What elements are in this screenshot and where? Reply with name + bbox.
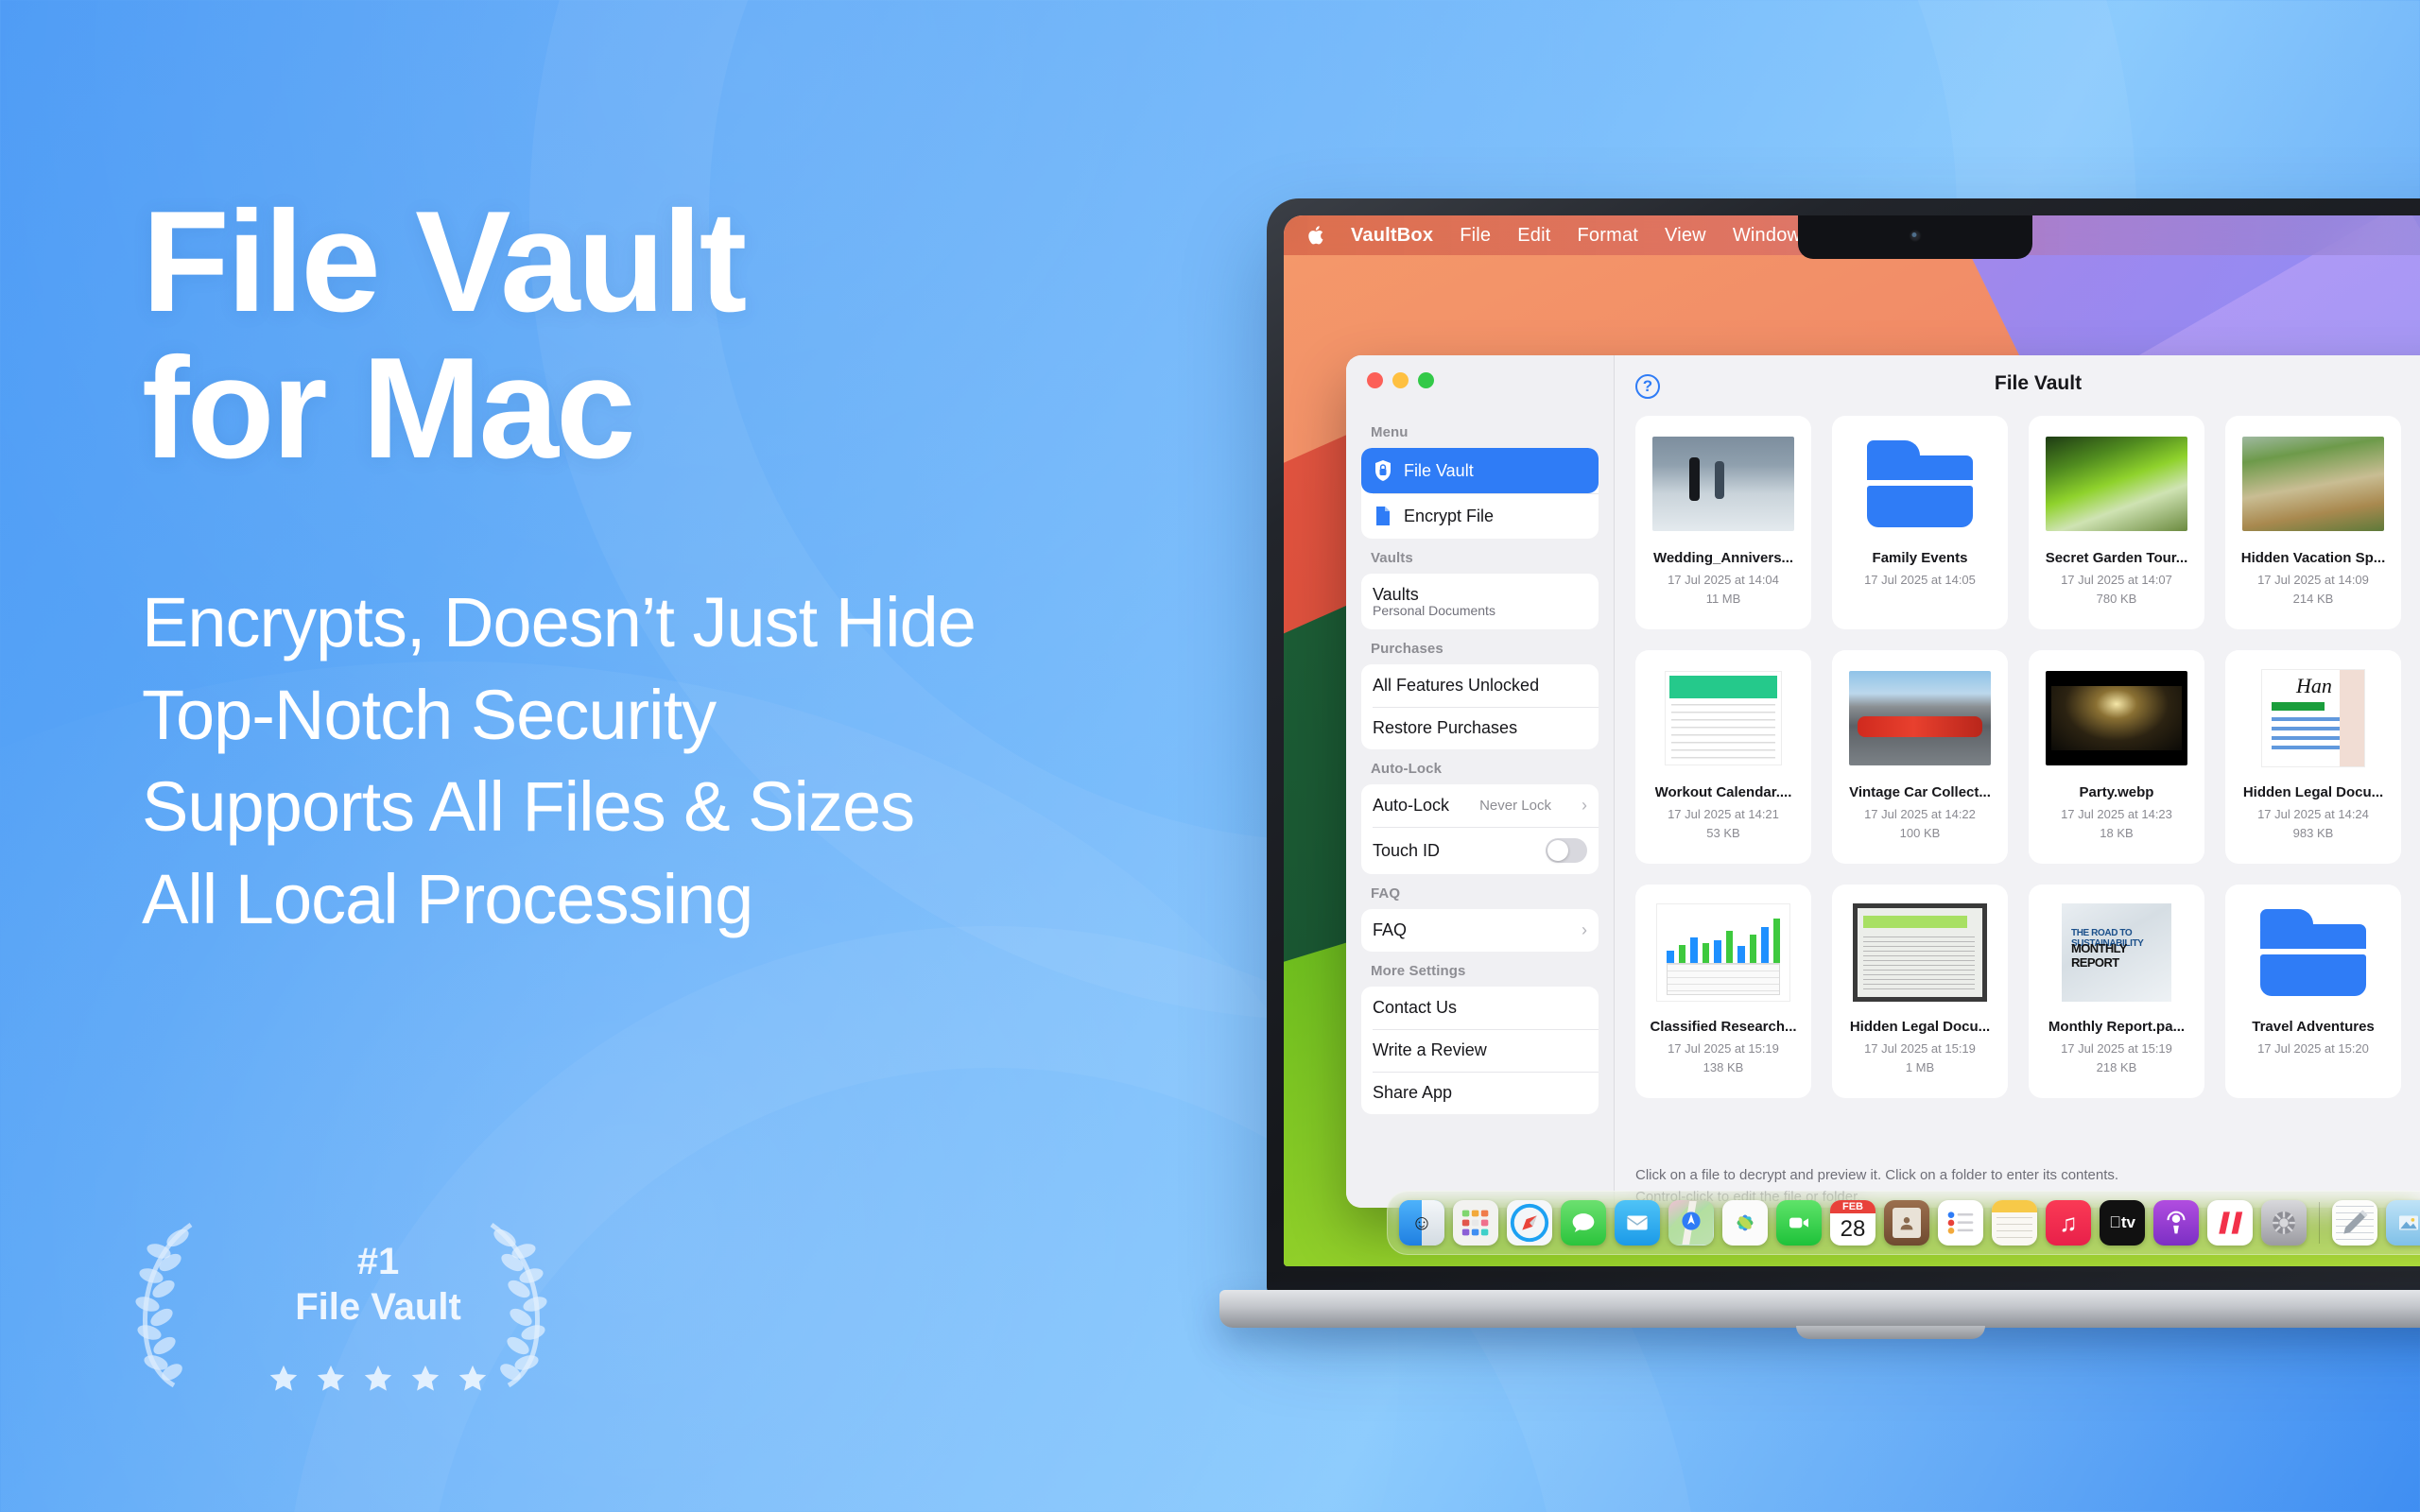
file-size: 53 KB [1706, 824, 1739, 843]
sidebar-item-label: Vaults [1373, 585, 1419, 605]
file-date: 17 Jul 2025 at 14:04 [1668, 571, 1779, 590]
file-date: 17 Jul 2025 at 14:24 [2257, 805, 2369, 824]
photo-icon [2046, 671, 2187, 765]
file-card[interactable]: Secret Garden Tour... 17 Jul 2025 at 14:… [2029, 416, 2204, 629]
music-icon[interactable]: ♫ [2046, 1200, 2091, 1246]
main-toolbar: ? File Vault [1615, 355, 2420, 414]
menu-item-format[interactable]: Format [1577, 225, 1638, 247]
sidebar-item-auto-lock[interactable]: Auto-Lock Never Lock › [1361, 784, 1599, 827]
photo-icon [2046, 437, 2187, 531]
sidebar-group-auto-lock: Auto-Lock Never Lock › Touch ID [1361, 784, 1599, 874]
star-icon [409, 1363, 441, 1395]
photo-icon [1652, 437, 1794, 531]
sidebar-item-contact-us[interactable]: Contact Us [1361, 987, 1599, 1029]
file-grid: Wedding_Annivers... 17 Jul 2025 at 14:04… [1615, 414, 2420, 1150]
file-name: Secret Garden Tour... [2046, 550, 2188, 566]
award-badge: #1 File Vault [132, 1219, 624, 1408]
auto-lock-value: Never Lock [1479, 798, 1551, 814]
file-size: 11 MB [1706, 590, 1741, 609]
chevron-right-icon: › [1582, 920, 1587, 940]
sidebar-item-label: All Features Unlocked [1373, 676, 1539, 696]
chart-preview-icon [1656, 903, 1790, 1002]
menu-item-app[interactable]: VaultBox [1351, 225, 1433, 247]
file-name: Family Events [1873, 550, 1968, 566]
photos-icon[interactable] [1722, 1200, 1768, 1246]
main-content: ? File Vault Wedding_Annivers... 17 Jul … [1615, 355, 2420, 1208]
file-size: 214 KB [2293, 590, 2334, 609]
menu-item-file[interactable]: File [1460, 225, 1491, 247]
pdf-preview-icon: THE ROAD TOSUSTAINABILITYMONTHLYREPORT [2062, 903, 2171, 1002]
sidebar-group-vaults: Vaults Personal Documents [1361, 574, 1599, 629]
laptop-base [1219, 1290, 2420, 1328]
mail-icon[interactable] [1615, 1200, 1660, 1246]
file-card[interactable]: Vintage Car Collect... 17 Jul 2025 at 14… [1832, 650, 2008, 864]
file-thumbnail [2046, 431, 2187, 537]
badge-rank: #1 [236, 1240, 520, 1283]
headline-line-1: File Vault [142, 181, 744, 342]
file-date: 17 Jul 2025 at 15:19 [2061, 1039, 2172, 1058]
file-name: Workout Calendar.... [1655, 784, 1792, 800]
system-settings-icon[interactable] [2261, 1200, 2307, 1246]
menu-item-view[interactable]: View [1665, 225, 1706, 247]
sidebar-item-share-app[interactable]: Share App [1361, 1072, 1599, 1114]
file-card[interactable]: Party.webp 17 Jul 2025 at 14:23 18 KB [2029, 650, 2204, 864]
dock-separator [2319, 1202, 2320, 1244]
sidebar-section-header: Purchases [1361, 629, 1599, 664]
file-thumbnail [1849, 431, 1991, 537]
touch-id-toggle[interactable] [1546, 838, 1587, 863]
sidebar-section-header: Vaults [1361, 539, 1599, 574]
calendar-icon[interactable]: FEB 28 [1830, 1200, 1875, 1246]
document-icon [1373, 505, 1393, 527]
badge-name: File Vault [236, 1283, 520, 1331]
sidebar-item-faq[interactable]: FAQ › [1361, 909, 1599, 952]
file-date: 17 Jul 2025 at 15:19 [1864, 1039, 1976, 1058]
folder-icon [2260, 909, 2366, 996]
main-title: File Vault [1615, 372, 2420, 395]
star-rating [236, 1363, 520, 1395]
file-date: 17 Jul 2025 at 14:21 [1668, 805, 1779, 824]
file-thumbnail [1652, 665, 1794, 771]
contacts-icon[interactable] [1884, 1200, 1929, 1246]
file-thumbnail [2242, 431, 2384, 537]
sidebar-section-header: Menu [1361, 413, 1599, 448]
sidebar-item-vaults[interactable]: Vaults [1361, 574, 1599, 609]
file-date: 17 Jul 2025 at 14:22 [1864, 805, 1976, 824]
messages-icon[interactable] [1561, 1200, 1606, 1246]
file-thumbnail [2242, 900, 2384, 1005]
marketing-copy: File Vault for Mac Encrypts, Doesn’t Jus… [142, 189, 1219, 946]
safari-icon[interactable] [1507, 1200, 1552, 1246]
file-thumbnail [2046, 665, 2187, 771]
photo-icon [2242, 437, 2384, 531]
sidebar-item-label: File Vault [1404, 461, 1474, 481]
sidebar-group-more-settings: Contact Us Write a Review Share App [1361, 987, 1599, 1114]
file-size: 780 KB [2097, 590, 2137, 609]
menu-item-edit[interactable]: Edit [1517, 225, 1550, 247]
file-size: 983 KB [2293, 824, 2334, 843]
file-card[interactable]: Wedding_Annivers... 17 Jul 2025 at 14:04… [1635, 416, 1811, 629]
news-icon[interactable] [2207, 1200, 2253, 1246]
sidebar-item-write-a-review[interactable]: Write a Review [1361, 1029, 1599, 1072]
file-name: Hidden Legal Docu... [2243, 784, 2383, 800]
file-card[interactable]: Travel Adventures 17 Jul 2025 at 15:20 [2225, 885, 2401, 1098]
feature-item: Top-Notch Security [142, 669, 1219, 762]
laptop-screen: VaultBox File Edit Format View Window He… [1284, 215, 2420, 1266]
file-date: 17 Jul 2025 at 14:07 [2061, 571, 2172, 590]
minimize-button[interactable] [1392, 372, 1409, 388]
menu-item-window[interactable]: Window [1733, 225, 1801, 247]
file-date: 17 Jul 2025 at 15:20 [2257, 1039, 2369, 1058]
file-date: 17 Jul 2025 at 14:23 [2061, 805, 2172, 824]
file-thumbnail [1849, 900, 1991, 1005]
sidebar-item-touch-id[interactable]: Touch ID [1361, 827, 1599, 874]
sidebar-item-label: Encrypt File [1404, 507, 1494, 526]
notes-icon[interactable] [1992, 1200, 2037, 1246]
document-preview-icon: Han [2261, 669, 2365, 767]
webcam-icon [1910, 230, 1922, 242]
reminders-icon[interactable] [1938, 1200, 1983, 1246]
chevron-right-icon: › [1582, 796, 1587, 816]
sidebar-section-header: Auto-Lock [1361, 749, 1599, 784]
sidebar-item-label: Auto-Lock [1373, 796, 1449, 816]
app-window: Menu File Vault [1346, 355, 2420, 1208]
star-icon [268, 1363, 300, 1395]
textedit-icon[interactable] [2332, 1200, 2377, 1246]
sidebar-item-file-vault[interactable]: File Vault [1361, 448, 1599, 493]
file-name: Monthly Report.pa... [2048, 1019, 2185, 1035]
file-card[interactable]: Family Events 17 Jul 2025 at 14:05 [1832, 416, 2008, 629]
photo-icon [1849, 671, 1991, 765]
sidebar-item-label: FAQ [1373, 920, 1407, 940]
file-name: Hidden Vacation Sp... [2241, 550, 2386, 566]
laptop-lid: VaultBox File Edit Format View Window He… [1267, 198, 2420, 1295]
macbook-mockup: VaultBox File Edit Format View Window He… [1219, 198, 2420, 1361]
sidebar: Menu File Vault [1346, 355, 1615, 1208]
star-icon [457, 1363, 489, 1395]
file-name: Party.webp [2080, 784, 2154, 800]
headline-line-2: for Mac [142, 335, 1219, 482]
zoom-button[interactable] [1418, 372, 1434, 388]
file-size: 18 KB [2100, 824, 2133, 843]
display-notch [1798, 215, 2032, 259]
sidebar-section-header: More Settings [1361, 952, 1599, 987]
file-thumbnail: Han [2242, 665, 2384, 771]
file-name: Travel Adventures [2252, 1019, 2375, 1035]
badge-text: #1 File Vault [236, 1240, 520, 1331]
slide-preview-icon [1853, 903, 1987, 1002]
sidebar-item-all-features-unlocked[interactable]: All Features Unlocked [1361, 664, 1599, 707]
main-title-text: File Vault [1995, 372, 2082, 395]
sidebar-group-faq: FAQ › [1361, 909, 1599, 952]
launchpad-icon[interactable] [1453, 1200, 1498, 1246]
macos-dock[interactable]: ☺ [1387, 1191, 2420, 1255]
file-date: 17 Jul 2025 at 15:19 [1668, 1039, 1779, 1058]
close-button[interactable] [1367, 372, 1383, 388]
preview-icon[interactable] [2386, 1200, 2420, 1246]
sidebar-group-menu: File Vault Encrypt File [1361, 448, 1599, 539]
feature-list: Encrypts, Doesn’t Just Hide Top-Notch Se… [142, 576, 1219, 946]
sidebar-item-label: Write a Review [1373, 1040, 1487, 1060]
facetime-icon[interactable] [1776, 1200, 1822, 1246]
file-thumbnail [1652, 900, 1794, 1005]
file-name: Classified Research... [1650, 1019, 1796, 1035]
star-icon [315, 1363, 347, 1395]
feature-item: Supports All Files & Sizes [142, 761, 1219, 853]
file-name: Hidden Legal Docu... [1850, 1019, 1990, 1035]
sidebar-item-label: Share App [1373, 1083, 1452, 1103]
hint-line-1: Click on a file to decrypt and preview i… [1635, 1165, 2420, 1187]
sidebar-item-label: Contact Us [1373, 998, 1457, 1018]
file-card[interactable]: Hidden Vacation Sp... 17 Jul 2025 at 14:… [2225, 416, 2401, 629]
file-card[interactable]: THE ROAD TOSUSTAINABILITYMONTHLYREPORT M… [2029, 885, 2204, 1098]
file-name: Wedding_Annivers... [1653, 550, 1793, 566]
file-thumbnail [1849, 665, 1991, 771]
sidebar-item-label: Restore Purchases [1373, 718, 1517, 738]
file-thumbnail: THE ROAD TOSUSTAINABILITYMONTHLYREPORT [2046, 900, 2187, 1005]
file-size: 138 KB [1703, 1058, 1744, 1077]
file-name: Vintage Car Collect... [1849, 784, 1991, 800]
file-card[interactable]: Classified Research... 17 Jul 2025 at 15… [1635, 885, 1811, 1098]
laurel-left-icon [132, 1219, 208, 1389]
appletv-icon[interactable]: tv [2100, 1200, 2145, 1246]
sidebar-item-encrypt-file[interactable]: Encrypt File [1361, 493, 1599, 539]
file-card[interactable]: Han Hidden Legal Docu... 17 Jul 2025 at … [2225, 650, 2401, 864]
star-icon [362, 1363, 394, 1395]
finder-icon[interactable]: ☺ [1399, 1200, 1444, 1246]
sidebar-item-label: Touch ID [1373, 841, 1440, 861]
file-size: 100 KB [1900, 824, 1941, 843]
podcasts-icon[interactable] [2153, 1200, 2199, 1246]
file-size: 1 MB [1906, 1058, 1934, 1077]
file-thumbnail [1652, 431, 1794, 537]
folder-icon [1867, 440, 1973, 527]
file-date: 17 Jul 2025 at 14:09 [2257, 571, 2369, 590]
window-controls[interactable] [1361, 355, 1599, 413]
page-title: File Vault for Mac [142, 189, 1219, 482]
file-date: 17 Jul 2025 at 14:05 [1864, 571, 1976, 590]
feature-item: All Local Processing [142, 853, 1219, 946]
sidebar-group-purchases: All Features Unlocked Restore Purchases [1361, 664, 1599, 749]
file-card[interactable]: Hidden Legal Docu... 17 Jul 2025 at 15:1… [1832, 885, 2008, 1098]
file-card[interactable]: Workout Calendar.... 17 Jul 2025 at 14:2… [1635, 650, 1811, 864]
file-size: 218 KB [2097, 1058, 2137, 1077]
feature-item: Encrypts, Doesn’t Just Hide [142, 576, 1219, 669]
sidebar-item-restore-purchases[interactable]: Restore Purchases [1361, 707, 1599, 749]
apple-icon[interactable] [1306, 225, 1324, 246]
document-preview-icon [1665, 671, 1782, 765]
sidebar-section-header: FAQ [1361, 874, 1599, 909]
lock-shield-icon [1373, 459, 1393, 482]
maps-icon[interactable] [1668, 1200, 1714, 1246]
